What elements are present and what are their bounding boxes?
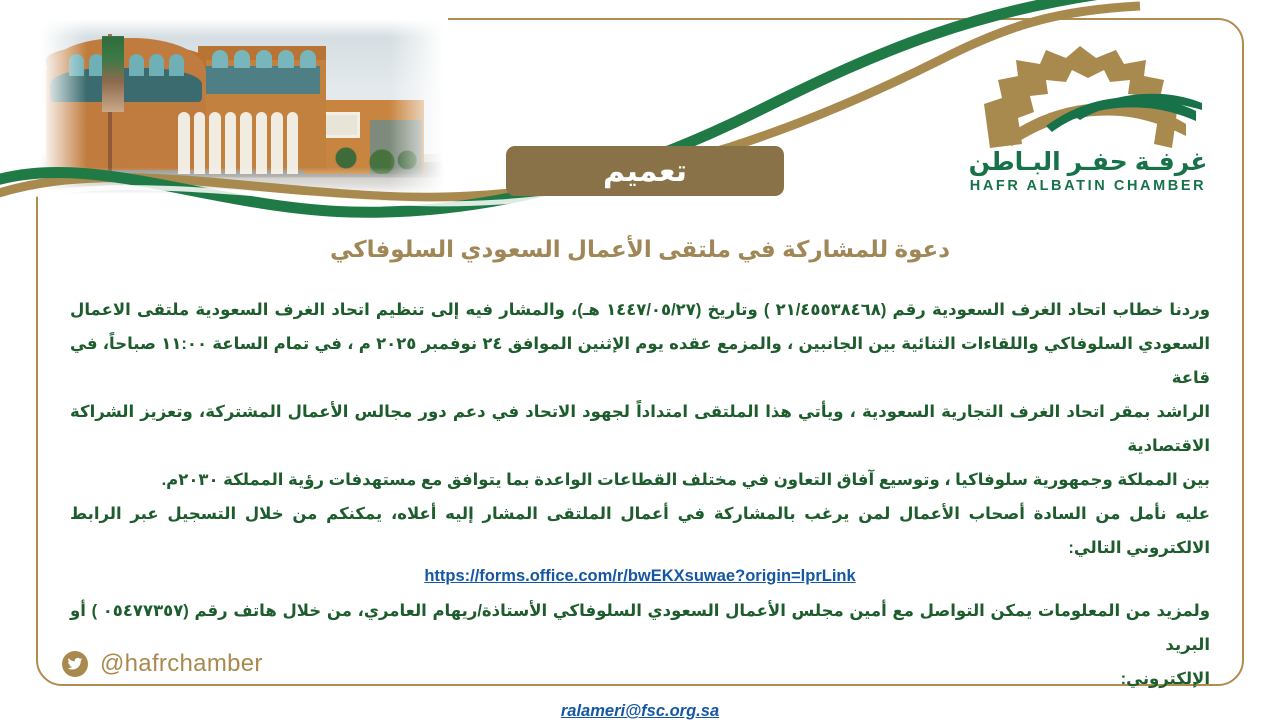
document-title: دعوة للمشاركة في ملتقى الأعمال السعودي ا… [70,236,1210,263]
contact-email-row: ralameri@fsc.org.sa [70,702,1210,720]
body-line: عليه نأمل من السادة أصحاب الأعمال لمن ير… [70,497,1210,565]
document-body: دعوة للمشاركة في ملتقى الأعمال السعودي ا… [70,236,1210,720]
body-line: السعودي السلوفاكي واللقاءات الثنائية بين… [70,327,1210,395]
body-line: وردنا خطاب اتحاد الغرف السعودية رقم (٢١/… [70,293,1210,327]
footer-social[interactable]: @hafrchamber [62,650,263,678]
logo-arabic-name: غرفـة حفـر البـاطن [954,150,1222,175]
registration-link[interactable]: https://forms.office.com/r/bwEKXsuwae?or… [424,567,855,585]
circular-banner-label: تعميم [603,154,687,189]
chamber-building-photo [28,16,448,196]
contact-email-link[interactable]: ralameri@fsc.org.sa [561,702,719,720]
circular-document: غرفـة حفـر البـاطن HAFR ALBATIN CHAMBER … [0,0,1280,720]
social-handle-text[interactable]: @hafrchamber [100,650,263,678]
document-paragraph: وردنا خطاب اتحاد الغرف السعودية رقم (٢١/… [70,293,1210,565]
circular-banner: تعميم [506,146,784,196]
registration-link-row: https://forms.office.com/r/bwEKXsuwae?or… [70,567,1210,586]
logo-english-name: HAFR ALBATIN CHAMBER [954,178,1222,194]
chamber-logo-mark [954,42,1222,154]
chamber-logo: غرفـة حفـر البـاطن HAFR ALBATIN CHAMBER [954,42,1222,202]
body-line: بين المملكة وجمهورية سلوفاكيا ، وتوسيع آ… [70,463,1210,497]
contact-paragraph: ولمزيد من المعلومات يمكن التواصل مع أمين… [70,594,1210,696]
body-line: الراشد بمقر اتحاد الغرف التجارية السعودي… [70,395,1210,463]
twitter-icon[interactable] [62,651,88,677]
